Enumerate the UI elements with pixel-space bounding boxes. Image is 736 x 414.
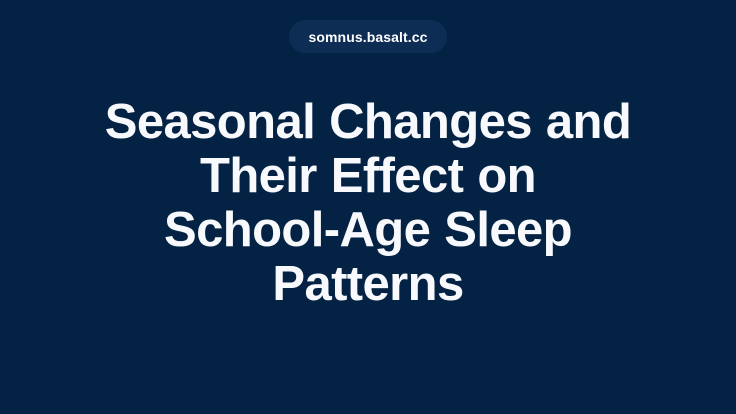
title-line-2: Their Effect on xyxy=(48,149,688,203)
page-title: Seasonal Changes and Their Effect on Sch… xyxy=(48,95,688,311)
title-line-3: School-Age Sleep xyxy=(48,203,688,257)
headline-wrap: Seasonal Changes and Their Effect on Sch… xyxy=(48,95,688,311)
badge-row: somnus.basalt.cc xyxy=(0,20,736,53)
title-line-4: Patterns xyxy=(48,257,688,311)
title-line-1: Seasonal Changes and xyxy=(48,95,688,149)
source-domain-badge: somnus.basalt.cc xyxy=(289,20,446,53)
title-slide: somnus.basalt.cc Seasonal Changes and Th… xyxy=(0,0,736,414)
